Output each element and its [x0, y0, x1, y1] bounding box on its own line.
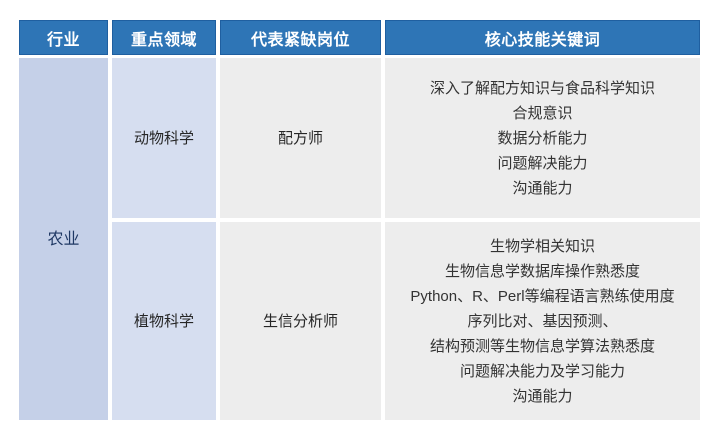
table-header-core-skills: 核心技能关键词	[385, 20, 700, 55]
table-row: 动物科学	[112, 58, 216, 218]
table-row: 配方师	[220, 58, 381, 218]
cell-skills-text: 生物学相关知识 生物信息学数据库操作熟悉度 Python、R、Perl等编程语言…	[395, 234, 690, 409]
page-root: 行业 重点领域 代表紧缺岗位 核心技能关键词 农业 动物科学 配方师 深入了解配…	[0, 0, 720, 436]
table-row: 生物学相关知识 生物信息学数据库操作熟悉度 Python、R、Perl等编程语言…	[385, 222, 700, 420]
table-row: 植物科学	[112, 222, 216, 420]
cell-skills-text: 深入了解配方知识与食品科学知识 合规意识 数据分析能力 问题解决能力 沟通能力	[395, 76, 690, 201]
table-header-industry: 行业	[19, 20, 108, 55]
table-header-key-field: 重点领域	[112, 20, 216, 55]
cell-field-label: 植物科学	[134, 309, 194, 334]
cell-role-label: 配方师	[278, 126, 323, 151]
table-cell-industry-agriculture: 农业	[19, 58, 108, 420]
cell-field-label: 动物科学	[134, 126, 194, 151]
cell-role-label: 生信分析师	[263, 309, 338, 334]
table-row: 深入了解配方知识与食品科学知识 合规意识 数据分析能力 问题解决能力 沟通能力	[385, 58, 700, 218]
table-header-shortage-role: 代表紧缺岗位	[220, 20, 381, 55]
skills-table: 行业 重点领域 代表紧缺岗位 核心技能关键词 农业 动物科学 配方师 深入了解配…	[19, 20, 700, 420]
table-row: 生信分析师	[220, 222, 381, 420]
